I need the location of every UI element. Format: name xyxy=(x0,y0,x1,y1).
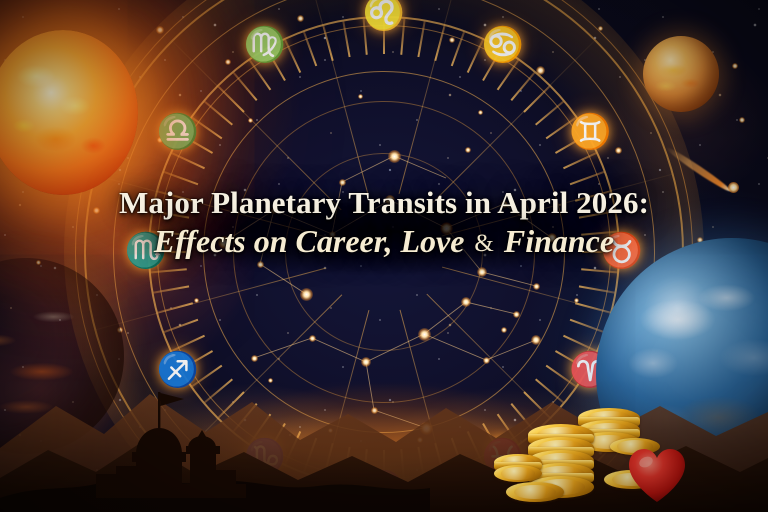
temple-silhouette xyxy=(96,378,246,498)
bright-star xyxy=(574,298,579,303)
bright-star xyxy=(732,63,738,69)
bright-star xyxy=(598,26,603,31)
bright-star xyxy=(156,26,164,34)
bright-star xyxy=(478,110,483,115)
flag-pole xyxy=(158,392,160,434)
heart-icon xyxy=(626,446,688,504)
venus-planet xyxy=(643,36,719,112)
bright-star xyxy=(157,137,163,143)
page-title-line1: Major Planetary Transits in April 2026: xyxy=(0,186,768,221)
venus-surface-texture xyxy=(643,36,719,112)
banner-headline: Major Planetary Transits in April 2026: … xyxy=(0,186,768,262)
page-title-line2: Effects on Career, Love & Finance xyxy=(0,221,768,262)
bright-star xyxy=(225,59,231,65)
subtitle-part-1: Effects on Career, Love xyxy=(154,223,464,259)
bright-star xyxy=(465,147,471,153)
coins-and-heart xyxy=(492,398,716,510)
bright-star xyxy=(194,298,199,303)
bright-star xyxy=(739,117,745,123)
ampersand-glyph: & xyxy=(472,230,495,257)
bright-star xyxy=(297,15,304,22)
temple-flag xyxy=(160,393,184,406)
temple-dome xyxy=(136,428,182,454)
bright-star xyxy=(615,147,622,154)
bright-star xyxy=(248,118,253,123)
bright-star xyxy=(358,94,363,99)
coin-loose xyxy=(506,482,564,502)
subtitle-part-2: Finance xyxy=(504,223,614,259)
astrology-banner: ♎♍♌♋♊♉♈♓♒♑♐♏ xyxy=(0,0,768,512)
bright-star xyxy=(536,66,545,75)
coin-stack-left xyxy=(494,465,542,482)
bright-star xyxy=(449,37,455,43)
